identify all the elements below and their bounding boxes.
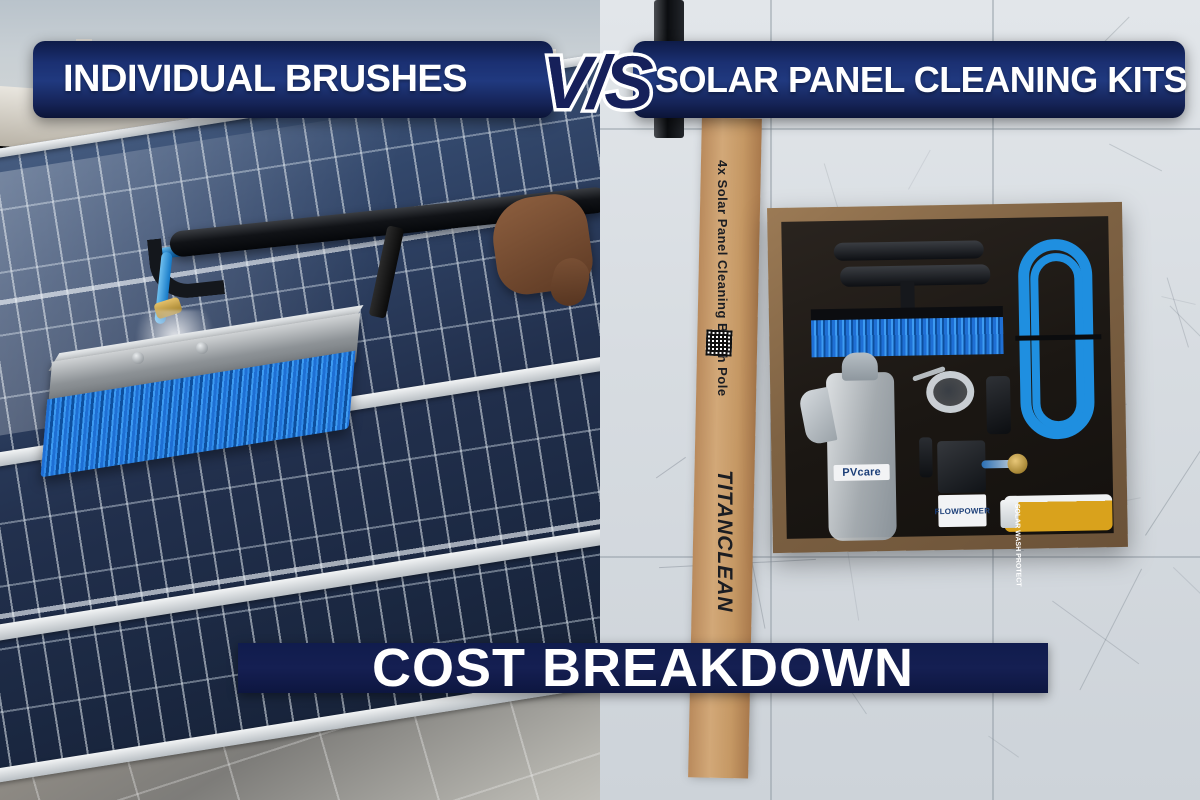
- pole-grip-lower: [840, 264, 990, 287]
- funnel-adapter: [926, 371, 975, 414]
- kit-box: PVcare FLOWPOWER SOLAR WASH PROTECT: [767, 202, 1128, 553]
- brush-t-connector: [900, 282, 914, 310]
- banner-cost-breakdown: COST BREAKDOWN: [238, 643, 1048, 693]
- solar-wash-label-text: SOLAR WASH PROTECT: [1000, 504, 1021, 534]
- banner-solar-panel-cleaning-kits: SOLAR PANEL CLEANING KITS: [633, 41, 1185, 118]
- versus-label: V/S: [542, 40, 649, 125]
- remote-control: [986, 376, 1011, 434]
- pole-grip-upper: [834, 240, 984, 261]
- brush-head-bristles: [811, 317, 1004, 357]
- banner-individual-brushes: INDIVIDUAL BRUSHES: [33, 41, 553, 118]
- carton-product-text: 4x Solar Panel Cleaning Brush Pole: [715, 160, 730, 397]
- banner-bottom-label: COST BREAKDOWN: [372, 641, 914, 695]
- tile-grout-line: [600, 128, 1200, 130]
- banner-right-label: SOLAR PANEL CLEANING KITS: [655, 59, 1187, 101]
- brush-bolt: [196, 342, 208, 354]
- versus-divider: V/S: [536, 40, 656, 124]
- hex-key: [919, 437, 933, 477]
- pump-motor: [937, 440, 986, 493]
- pressure-sprayer-bottle: [826, 372, 897, 541]
- pump-brand-label: FLOWPOWER: [938, 494, 987, 527]
- carton-brand-text: TITANCLEAN: [712, 470, 736, 613]
- kit-box-foam-insert: PVcare FLOWPOWER SOLAR WASH PROTECT: [781, 216, 1113, 539]
- sprayer-brand-label: PVcare: [834, 464, 890, 481]
- sprayer-pump-head: [842, 352, 878, 381]
- brush-bolt: [132, 352, 144, 364]
- brass-hose-fitting: [1007, 454, 1027, 474]
- banner-left-label: INDIVIDUAL BRUSHES: [63, 58, 467, 101]
- comparison-graphic: 4x Solar Panel Cleaning Brush Pole TITAN…: [0, 0, 1200, 800]
- qr-code-icon: [706, 330, 733, 357]
- tile-grout-line: [600, 556, 1200, 558]
- blue-hose-coil-inner: [1030, 253, 1085, 430]
